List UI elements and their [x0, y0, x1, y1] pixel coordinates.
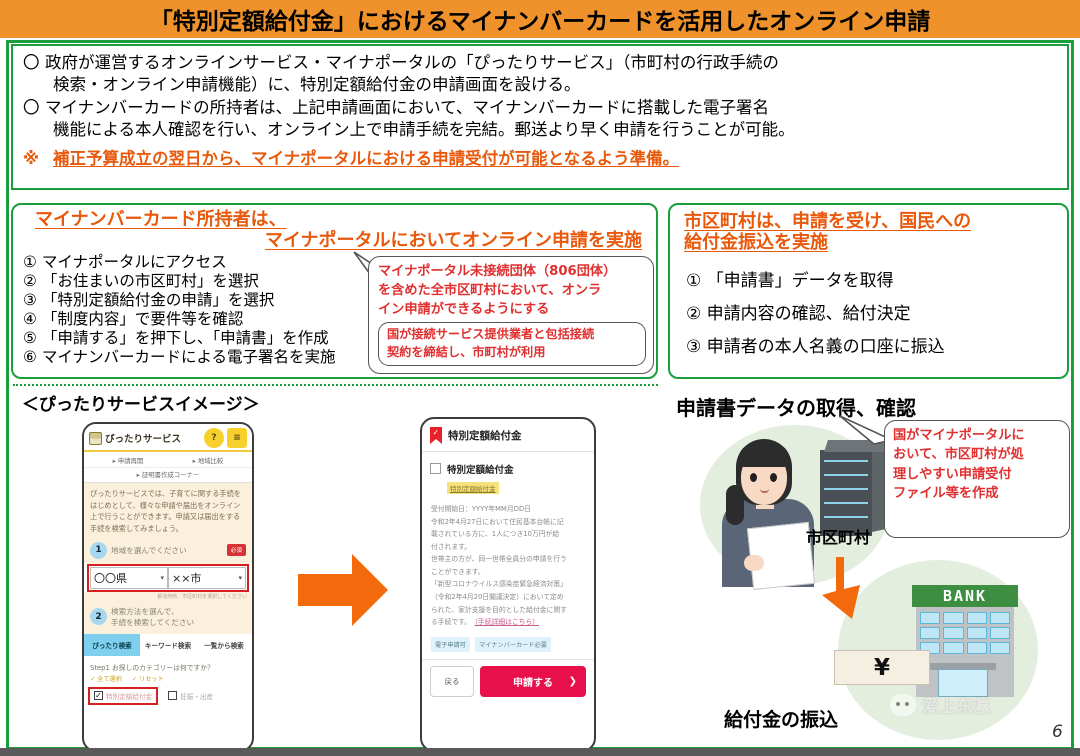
phone1-nav: ▸ 申請再開 ▸ 地域比較 — [84, 452, 252, 468]
orange-right-arrow-icon — [296, 552, 390, 628]
body-line: 令和2年4月27日において住民基本台帳に記 — [431, 516, 585, 529]
phone1-checkboxes: ✓ 特別定額給付金 妊娠・出産 — [84, 687, 252, 709]
left-sub-callout: 国が接続サービス提供業者と包括接続 契約を締結し、市町村が利用 — [378, 322, 646, 366]
menu-button[interactable]: ≡ — [227, 428, 247, 448]
clerk-eye-right — [770, 473, 777, 482]
callout-line: おいて、市区町村が処 — [893, 445, 1063, 464]
submit-button[interactable]: 申請する ❯ — [480, 666, 586, 697]
hamburger-icon: ≡ — [233, 433, 241, 443]
body-last-line: る手続です。 （手続詳細はこちら） — [431, 616, 585, 629]
callout-line: マイナポータル未接続団体（806団体） — [378, 262, 646, 281]
orange-down-arrow-icon — [812, 555, 884, 621]
hint-button[interactable]: ? — [204, 428, 224, 448]
bank-sign: BANK — [912, 585, 1018, 607]
select-hint-text: 都道府県、市区町村を選択してください — [84, 592, 252, 602]
bullet-mark: 〇 — [23, 52, 45, 74]
callout-line: イン申請ができるようにする — [378, 300, 646, 319]
benefit-item-name: 特別定額給付金 — [447, 462, 514, 476]
tab-keyword-search[interactable]: キーワード検索 — [140, 634, 196, 656]
phone1-step1: 1 地域を選んでください 必須 — [84, 540, 252, 564]
bullet-mark: 〇 — [23, 97, 45, 119]
page-number: 6 — [1052, 722, 1063, 742]
submit-label: 申請する — [513, 674, 553, 689]
body-line: （令和2年4月20日閣議決定）において定め — [431, 591, 585, 604]
list-item: ③ 申請者の本人名義の口座に振込 — [686, 331, 1067, 364]
checkbox-benefit-label: 特別定額給付金 — [106, 691, 152, 701]
benefit-item-tag: 特別定額給付金 — [447, 482, 499, 494]
back-button[interactable]: 戻る — [430, 666, 474, 697]
phone1-step2: 2 検索方法を選んで、 手続を検索してください — [84, 602, 252, 634]
phone2-body-text: 受付開始日：YYYY年MM月DD日 令和2年4月27日において住民基本台帳に記 … — [422, 497, 594, 629]
callout-line: 理しやすい申請受付 — [893, 465, 1063, 484]
summary-text: マイナンバーカードの所持者は、上記申請画面において、マイナンバーカードに搭載した… — [45, 97, 1057, 119]
callout-line: 国がマイナポータルに — [893, 426, 1063, 445]
bottom-strip — [0, 748, 1080, 756]
right-panel-heading: 市区町村は、申請を受け、国民への 給付金振込を実施 — [670, 205, 1067, 253]
highlight-box-benefit-checkbox: ✓ 特別定額給付金 — [88, 687, 158, 705]
summary-item: 〇 マイナンバーカードの所持者は、上記申請画面において、マイナンバーカードに搭載… — [23, 97, 1057, 142]
label-municipality: 市区町村 — [806, 524, 870, 548]
required-badge: 必須 — [227, 544, 246, 556]
prefecture-value: 〇〇県 — [94, 570, 127, 586]
checkbox-other-row: 妊娠・出産 — [168, 691, 213, 701]
nav-link-shomeisho[interactable]: ▸ 証明書作成コーナー — [84, 468, 252, 483]
body-line: ことができます。 — [431, 566, 585, 579]
note-mark: ※ — [23, 148, 53, 169]
nav-link-saikai[interactable]: ▸ 申請再開 — [113, 456, 144, 465]
clerk-fringe — [738, 443, 790, 467]
phone1-header: ぴったりサービス ? ≡ — [84, 424, 252, 452]
left-panel-heading: マイナンバーカード所持者は、 マイナポータルにおいてオンライン申請を実施 — [13, 205, 656, 251]
prefecture-select[interactable]: 〇〇県 ▾ — [90, 567, 168, 589]
summary-text: 機能による本人確認を行い、オンライン上で申請手続を完結。郵送より早く申請を行うこ… — [45, 119, 1057, 141]
summary-text: 政府が運営するオンラインサービス・マイナポータルの「ぴったりサービス」（市町村の… — [45, 52, 1057, 74]
sub-callout-line: 国が接続サービス提供業者と包括接続 — [387, 325, 640, 343]
phone1-brand: ぴったりサービス — [105, 431, 201, 445]
note-text: 補正予算成立の翌日から、マイナポータルにおける申請受付が可能となるよう準備。 — [53, 148, 679, 169]
yen-symbol: ¥ — [874, 655, 890, 681]
right-panel-steps: ① 「申請書」データを取得 ② 申請内容の確認、給付決定 ③ 申請者の本人名義の… — [670, 253, 1067, 363]
left-callout: マイナポータル未接続団体（806団体） を含めた全市区町村において、オンラ イン… — [368, 256, 654, 374]
chevron-right-icon: ❯ — [569, 676, 577, 687]
slide-title-bar: 「特別定額給付金」におけるマイナンバーカードを活用したオンライン申請 — [0, 0, 1080, 38]
phone1-intro-text: ぴったりサービスでは、子育てに関する手続をはじめとして、様々な申請や届出をオンラ… — [84, 483, 252, 540]
checkbox-other[interactable] — [168, 691, 177, 700]
watermark-text: 爱上东瀛 — [922, 692, 990, 717]
tag-mynumber-required: マイナンバーカード必要 — [475, 637, 551, 652]
search-method-tabs: ぴったり検索 キーワード検索 一覧から検索 — [84, 634, 252, 656]
bookmark-flag-icon: ✓ — [430, 427, 442, 444]
phone2-item-row: 特別定額給付金 特別定額給付金 — [422, 452, 594, 497]
nav-link-hikaku[interactable]: ▸ 地域比較 — [193, 456, 224, 465]
left-panel-heading-line1: マイナンバーカード所持者は、 — [35, 209, 287, 230]
summary-note: ※ 補正予算成立の翌日から、マイナポータルにおける申請受付が可能となるよう準備。 — [23, 148, 1057, 169]
checkbox-benefit-item[interactable] — [430, 463, 441, 474]
right-panel-heading-line2: 給付金振込を実施 — [684, 232, 1057, 253]
highlight-box-region-select: 〇〇県 ▾ ××市 ▾ — [87, 564, 249, 592]
step-number-1: 1 — [90, 542, 107, 559]
body-line: 「新型コロナウイルス感染症緊急経済対策」 — [431, 578, 585, 591]
city-value: ××市 — [172, 570, 201, 586]
list-item: ② 申請内容の確認、給付決定 — [686, 298, 1067, 331]
bank-sign-text: BANK — [943, 587, 987, 605]
phone2-header: ✓ 特別定額給付金 — [422, 419, 594, 452]
watermark: 爱上东瀛 — [890, 692, 990, 717]
step2-label: 検索方法を選んで、 手続を検索してください — [111, 606, 246, 628]
right-panel: 市区町村は、申請を受け、国民への 給付金振込を実施 ① 「申請書」データを取得 … — [668, 203, 1069, 379]
checkbox-benefit[interactable]: ✓ — [94, 691, 103, 700]
pittari-logo-icon — [89, 432, 102, 445]
phone1-links: ✓ 全て選択 ✓ リセット — [84, 674, 252, 687]
service-image-label: ＜ぴったりサービスイメージ＞ — [22, 390, 260, 415]
chevron-down-icon: ▾ — [160, 574, 164, 582]
callout-line: ファイル等を作成 — [893, 484, 1063, 503]
list-item: ① 「申請書」データを取得 — [686, 265, 1067, 298]
tab-list-search[interactable]: 一覧から検索 — [196, 634, 252, 656]
summary-text: 検索・オンライン申請機能）に、特別定額給付金の申請画面を設ける。 — [45, 74, 1057, 96]
clerk-illustration — [716, 437, 820, 587]
checkbox-other-label: 妊娠・出産 — [180, 691, 213, 701]
clerk-hand — [744, 555, 764, 571]
detail-link[interactable]: （手続詳細はこちら） — [475, 618, 540, 626]
body-line: 世帯主の方が、同一世帯全員分の申請を行う — [431, 553, 585, 566]
step1-label: 地域を選んでください — [111, 545, 223, 556]
wechat-icon — [890, 694, 916, 716]
body-line: られた、家計支援を目的とした給付金に関す — [431, 604, 585, 617]
clerk-eye-left — [750, 473, 757, 482]
city-select[interactable]: ××市 ▾ — [168, 567, 246, 589]
dotted-divider — [13, 384, 658, 386]
slide-page: 「特別定額給付金」におけるマイナンバーカードを活用したオンライン申請 〇 政府が… — [0, 0, 1080, 756]
body-line: 載されている方に、1人につき10万円が給 — [431, 528, 585, 541]
chevron-down-icon: ▾ — [238, 574, 242, 582]
reset-link[interactable]: ✓ リセット — [132, 674, 164, 683]
body-line: 付されます。 — [431, 541, 585, 554]
phone-mockup-pittari: ぴったりサービス ? ≡ ▸ 申請再開 ▸ 地域比較 ▸ 証明書作成コーナー ぴ… — [82, 422, 254, 752]
phone2-title: 特別定額給付金 — [448, 428, 522, 443]
tag-eapplication: 電子申請可 — [431, 637, 470, 652]
step-question-text: Step1 お探しのカテゴリーは何ですか？ — [84, 656, 252, 674]
summary-box: 〇 政府が運営するオンラインサービス・マイナポータルの「ぴったりサービス」（市町… — [11, 44, 1069, 190]
yen-note-illustration: ¥ — [834, 650, 930, 685]
callout-line: を含めた全市区町村において、オンラ — [378, 281, 646, 300]
page-title: 「特別定額給付金」におけるマイナンバーカードを活用したオンライン申請 — [150, 2, 931, 36]
sub-callout-line: 契約を締結し、市町村が利用 — [387, 343, 640, 361]
phone-mockup-benefit: ✓ 特別定額給付金 特別定額給付金 特別定額給付金 受付開始日：YYYY年MM月… — [420, 417, 596, 752]
step-number-2: 2 — [90, 608, 107, 625]
right-callout: 国がマイナポータルに おいて、市区町村が処 理しやすい申請受付 ファイル等を作成 — [884, 420, 1070, 538]
summary-item: 〇 政府が運営するオンラインサービス・マイナポータルの「ぴったりサービス」（市町… — [23, 52, 1057, 97]
tab-pittari-search[interactable]: ぴったり検索 — [84, 634, 140, 656]
left-panel-heading-line2: マイナポータルにおいてオンライン申請を実施 — [35, 230, 648, 251]
hint-label: ? — [211, 433, 216, 443]
select-all-link[interactable]: ✓ 全て選択 — [90, 674, 122, 683]
body-line: 受付開始日：YYYY年MM月DD日 — [431, 503, 585, 516]
bank-windows — [920, 612, 1010, 654]
phone2-footer: 戻る 申請する ❯ — [422, 659, 594, 705]
label-payment-transfer: 給付金の振込 — [724, 705, 838, 732]
right-panel-heading-line1: 市区町村は、申請を受け、国民への — [684, 211, 1057, 232]
phone2-tags: 電子申請可 マイナンバーカード必要 — [422, 629, 594, 659]
